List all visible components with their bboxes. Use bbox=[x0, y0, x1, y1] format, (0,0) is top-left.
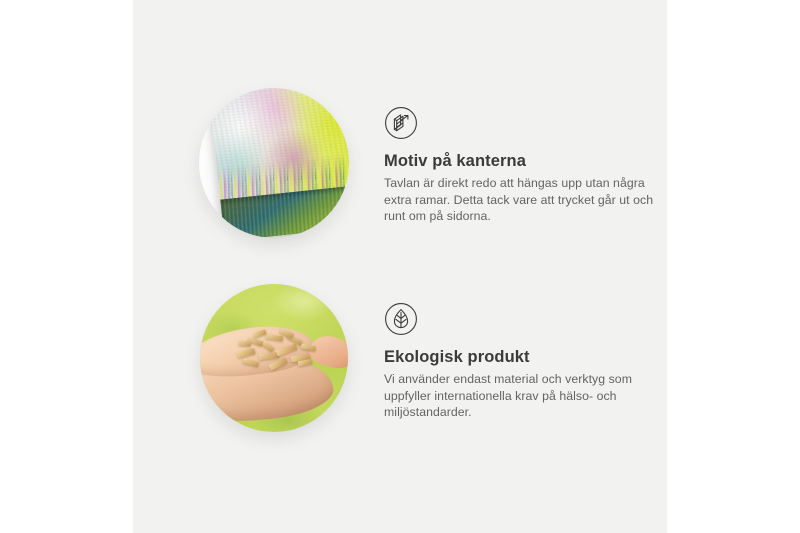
feature-title: Ekologisk produkt bbox=[384, 347, 654, 367]
feature-title: Motiv på kanterna bbox=[384, 151, 654, 171]
feature-text-1: Motiv på kanterna Tavlan är direkt redo … bbox=[384, 80, 654, 225]
wood-chip-pile bbox=[236, 328, 325, 378]
feature-text-2: Ekologisk produkt Vi använder endast mat… bbox=[384, 276, 654, 421]
canvas-block bbox=[208, 88, 349, 238]
content-panel: Motiv på kanterna Tavlan är direkt redo … bbox=[133, 0, 667, 533]
product-feature-panel: Motiv på kanterna Tavlan är direkt redo … bbox=[0, 0, 800, 533]
hands-wood-chips-photo bbox=[200, 284, 348, 432]
canvas-corner-photo bbox=[199, 88, 349, 238]
eco-photo-backdrop bbox=[200, 284, 348, 432]
canvas-photo-backdrop bbox=[199, 88, 349, 238]
leaf-icon bbox=[384, 302, 418, 336]
feature-body: Vi använder endast material och verktyg … bbox=[384, 371, 654, 421]
feature-body: Tavlan är direkt redo att hängas upp uta… bbox=[384, 175, 654, 225]
canvas-wrapped-edges-icon bbox=[384, 106, 418, 140]
